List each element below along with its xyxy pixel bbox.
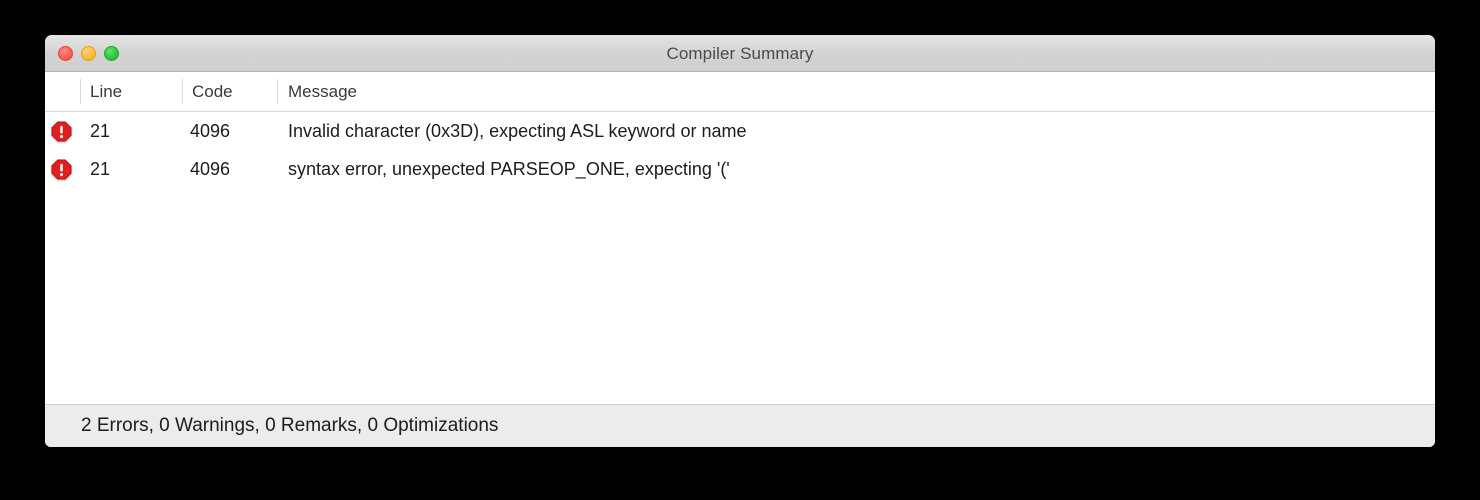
column-header-message[interactable]: Message — [288, 72, 357, 112]
window-titlebar[interactable]: Compiler Summary — [45, 35, 1435, 72]
column-divider[interactable] — [80, 79, 81, 104]
table-row[interactable]: 21 4096 syntax error, unexpected PARSEOP… — [45, 150, 1435, 188]
status-bar: 2 Errors, 0 Warnings, 0 Remarks, 0 Optim… — [45, 404, 1435, 447]
column-header-code[interactable]: Code — [192, 72, 233, 112]
window-title: Compiler Summary — [45, 35, 1435, 72]
minimize-window-button[interactable] — [81, 46, 96, 61]
column-divider[interactable] — [277, 79, 278, 104]
maximize-window-button[interactable] — [104, 46, 119, 61]
cell-code: 4096 — [190, 150, 230, 188]
cell-line: 21 — [90, 150, 110, 188]
cell-message: Invalid character (0x3D), expecting ASL … — [288, 112, 747, 150]
error-icon — [51, 112, 72, 150]
cell-code: 4096 — [190, 112, 230, 150]
cell-line: 21 — [90, 112, 110, 150]
compiler-summary-window: Compiler Summary Line Code Message — [45, 35, 1435, 447]
cell-message: syntax error, unexpected PARSEOP_ONE, ex… — [288, 150, 730, 188]
column-header-line[interactable]: Line — [90, 72, 122, 112]
traffic-light-group — [58, 35, 119, 72]
error-icon — [51, 150, 72, 188]
table-header-row: Line Code Message — [45, 72, 1435, 112]
status-summary-text: 2 Errors, 0 Warnings, 0 Remarks, 0 Optim… — [81, 415, 498, 437]
column-divider[interactable] — [182, 79, 183, 104]
table-row[interactable]: 21 4096 Invalid character (0x3D), expect… — [45, 112, 1435, 150]
screen: Compiler Summary Line Code Message — [0, 0, 1480, 500]
close-window-button[interactable] — [58, 46, 73, 61]
diagnostics-list[interactable]: 21 4096 Invalid character (0x3D), expect… — [45, 112, 1435, 404]
